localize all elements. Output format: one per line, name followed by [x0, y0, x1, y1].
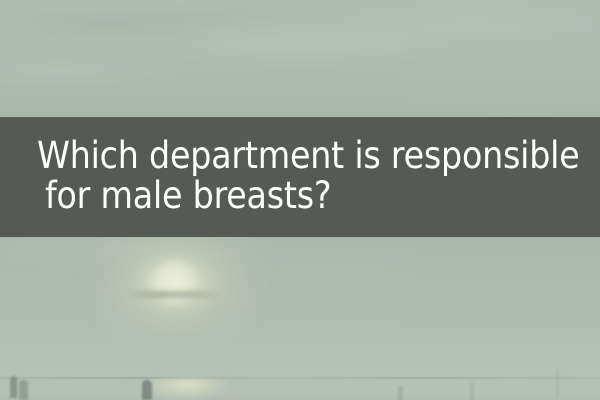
shoreline-figure-left — [10, 376, 17, 398]
water-surface — [0, 379, 600, 400]
image-canvas: Which department is responsible for male… — [0, 0, 600, 400]
caption-line-1: Which department is responsible — [0, 136, 600, 176]
sun-reflection — [152, 379, 228, 400]
caption-band: Which department is responsible for male… — [0, 117, 600, 237]
sun-core — [149, 261, 201, 305]
distant-object-mid-right — [398, 386, 403, 400]
distant-pole-far-right — [556, 370, 559, 398]
shoreline-figure-left-second — [19, 380, 28, 400]
caption-line-2: for male breasts? — [0, 176, 600, 216]
distant-mast-right — [470, 382, 474, 400]
shoreline-figure-center — [142, 380, 152, 400]
sun-streak — [127, 291, 223, 298]
